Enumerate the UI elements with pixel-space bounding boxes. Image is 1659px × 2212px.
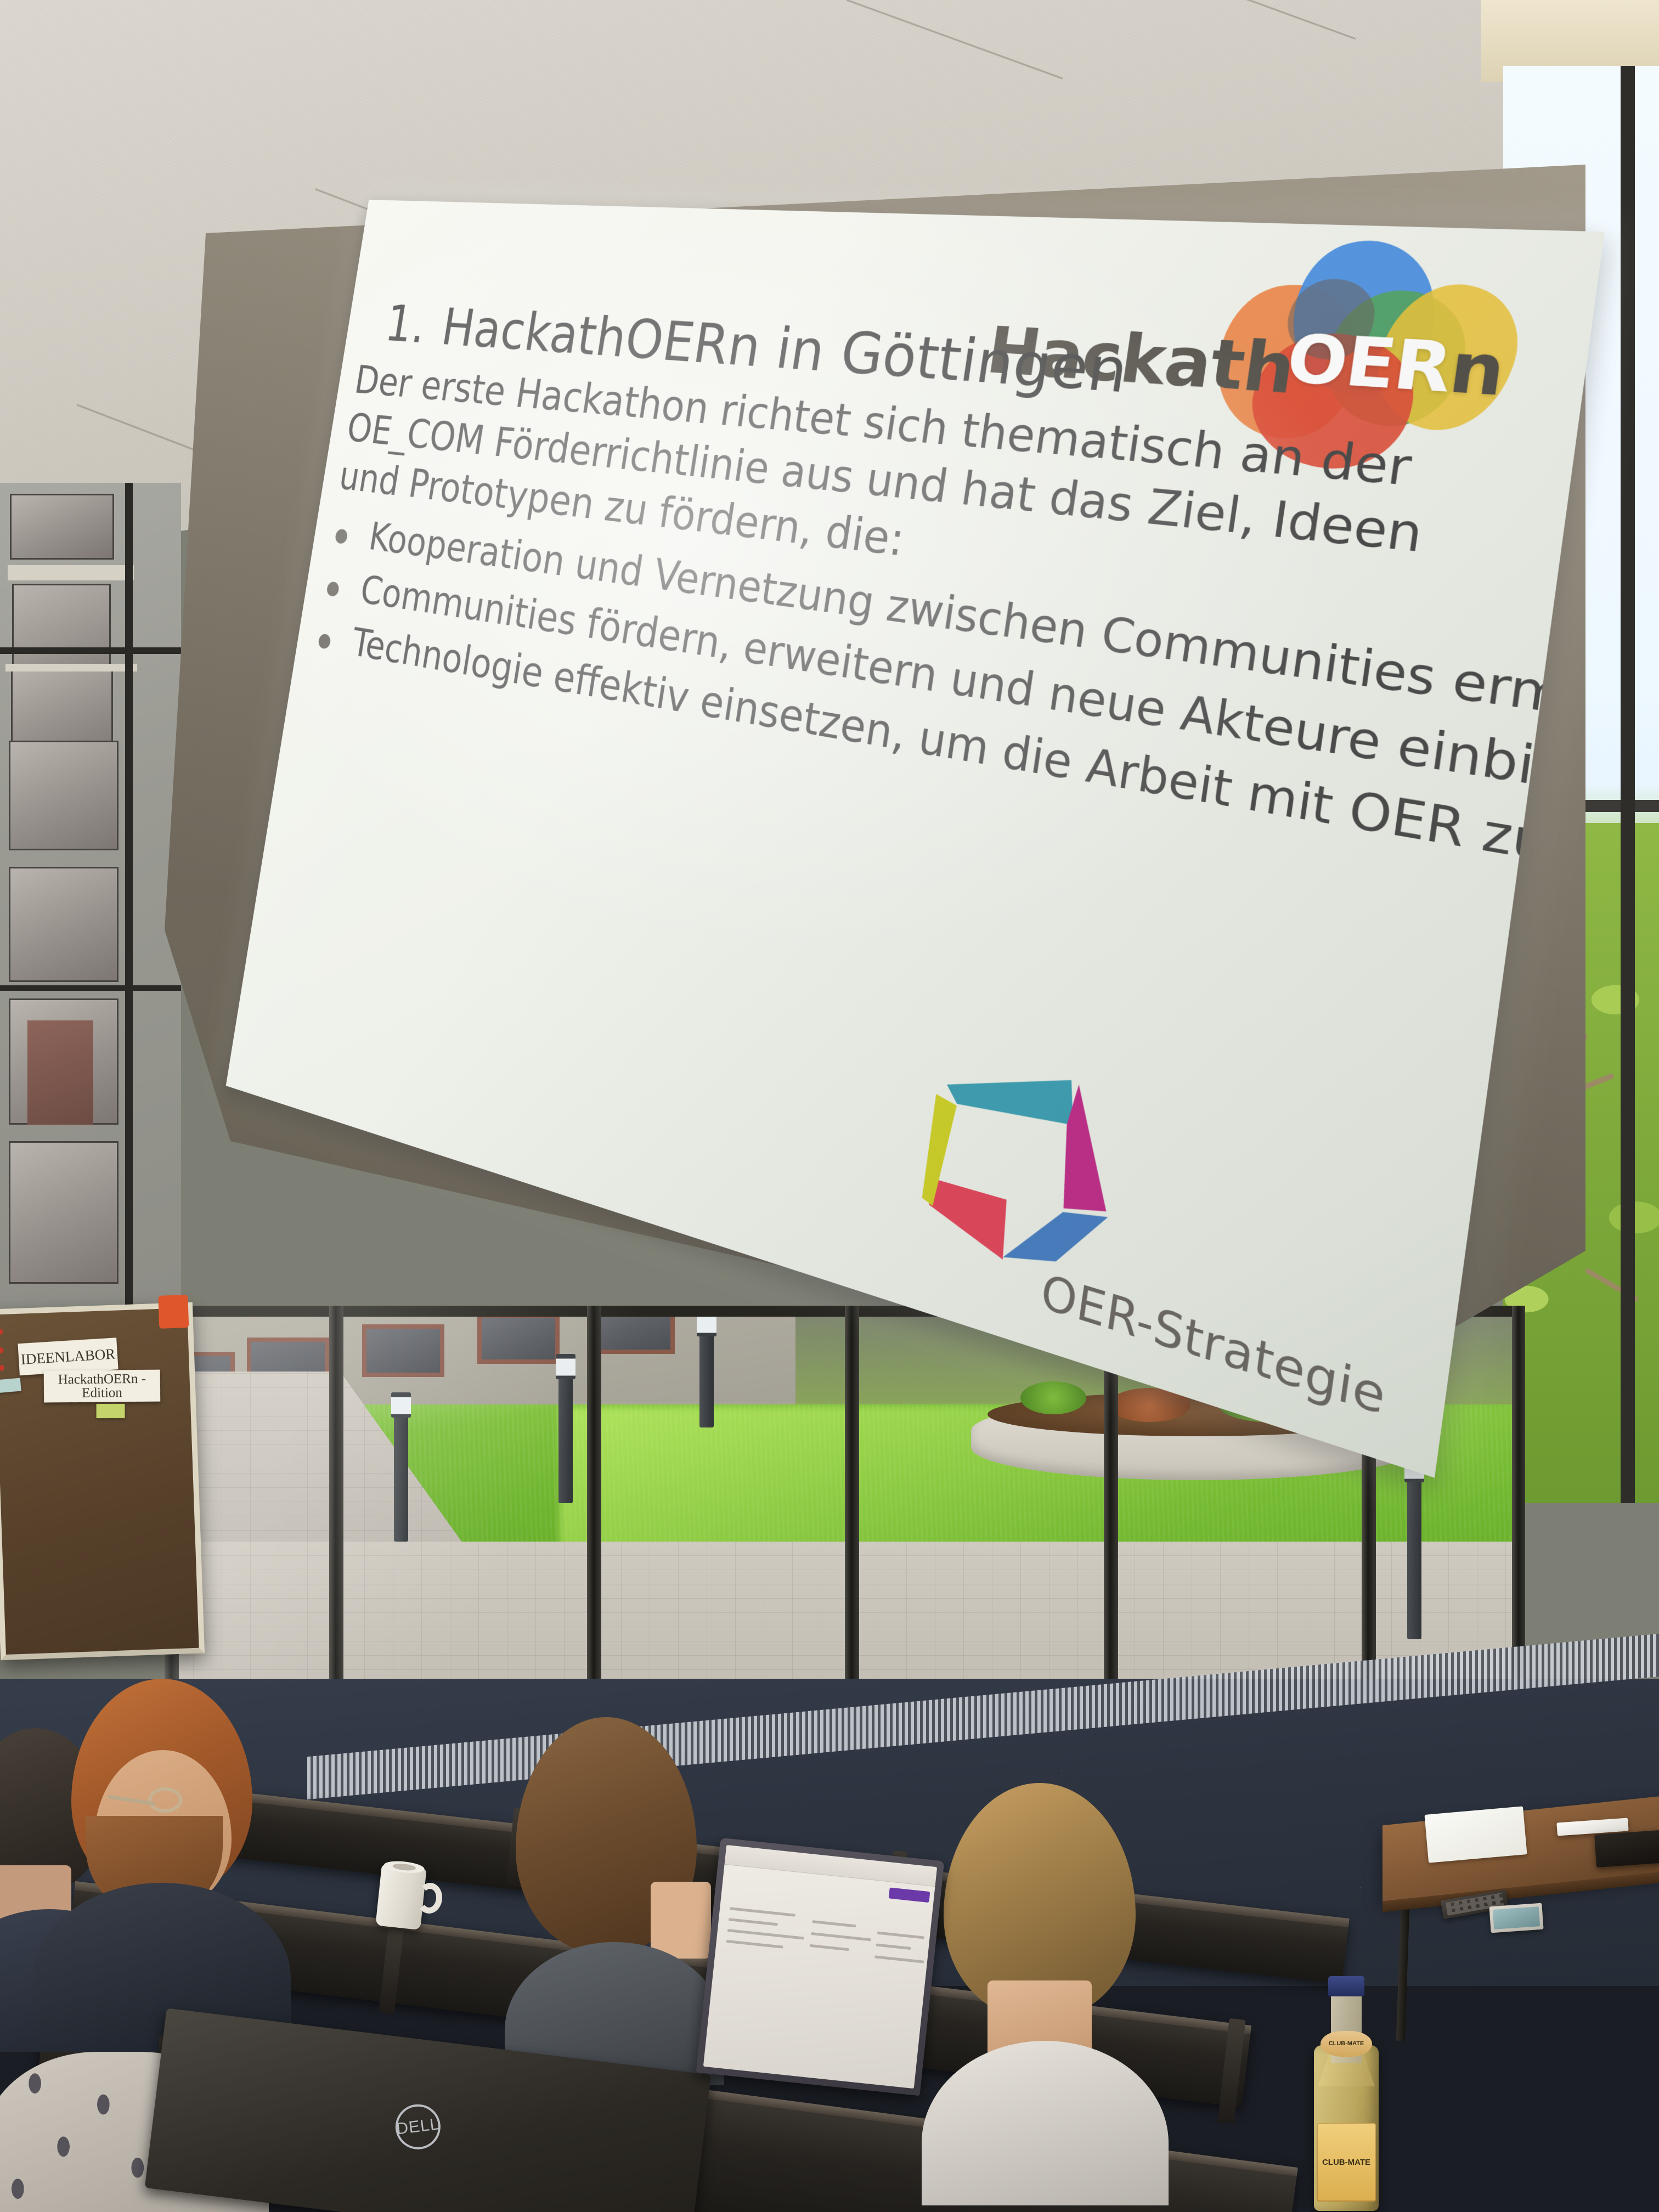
window-sill (5, 664, 137, 672)
glass-pane (9, 867, 119, 982)
document-line (876, 1943, 911, 1950)
bottle-neck-label: CLUB-MATE (1321, 2031, 1372, 2056)
laptop-accent-button (889, 1887, 930, 1903)
bottle-cap (1328, 1976, 1364, 1997)
building-window (362, 1324, 444, 1377)
dell-logo: DELL (393, 2102, 443, 2152)
sticky-note (97, 1404, 125, 1418)
window-mullion (1621, 66, 1635, 1503)
logo-wordmark-light: OERn (1282, 320, 1509, 411)
pinboard-sign-edition: HackathOERn - Edition (44, 1370, 160, 1403)
audience-member-right (927, 1783, 1158, 2167)
glass-pane (9, 741, 119, 850)
logo-n-text: n (1444, 329, 1509, 412)
atrium-glazing (0, 483, 181, 1339)
glass-pane (9, 1141, 119, 1284)
pinboard-corner-bracket (158, 1295, 189, 1329)
audience-member-with-glasses (33, 1679, 291, 2030)
facet-teal (945, 1050, 1080, 1135)
document-line (810, 1944, 849, 1951)
window-mullion (0, 647, 181, 654)
document-line (727, 1929, 804, 1940)
planter-shrub (1020, 1381, 1086, 1414)
laptop-screen (703, 1845, 937, 2089)
laptop-lid (696, 1838, 945, 2096)
open-laptop (696, 1838, 945, 2096)
glass-pane (10, 494, 114, 560)
facade-panel (27, 1020, 93, 1125)
audience-member-center (494, 1717, 730, 2068)
window-sill (8, 565, 134, 580)
document-line (730, 1907, 795, 1917)
bollard-light (558, 1377, 573, 1503)
window-mullion (125, 483, 133, 1339)
sticky-note (0, 1378, 21, 1393)
bottle-main-label: CLUB-MATE (1317, 2123, 1376, 2202)
window-mullion (0, 985, 181, 991)
projected-slide-area: Hackath OERn 1.HackathOERn in Göttingen … (187, 192, 1459, 1212)
bollard-light (394, 1415, 408, 1542)
document-line (726, 1940, 783, 1949)
eyeglasses-lens (148, 1787, 182, 1813)
document-line (811, 1932, 871, 1941)
lecture-hall-photo: Hackath OERn 1.HackathOERn in Göttingen … (0, 0, 1659, 2212)
ideenlabor-pinboard: IDEENLABOR HackathOERn - Edition (0, 1302, 205, 1661)
document-line (874, 1955, 924, 1963)
shoulders (922, 2041, 1169, 2205)
desk-phone (1489, 1903, 1543, 1933)
building-window (477, 1313, 560, 1364)
bollard-light (699, 1334, 714, 1427)
shoulders (33, 1883, 291, 2036)
document-line (877, 1932, 924, 1939)
bollard-light (1407, 1480, 1421, 1639)
neck-and-shoulder-skin (651, 1882, 711, 1959)
document-line (812, 1920, 856, 1927)
desk-equipment-box (1594, 1830, 1659, 1867)
desk-paper (1425, 1806, 1527, 1863)
club-mate-bottle: CLUB-MATE CLUB-MATE (1314, 1980, 1379, 2211)
phone-screen (1493, 1906, 1540, 1929)
slide-title-number: 1. (382, 294, 431, 354)
document-line (729, 1918, 778, 1926)
logo-oer-text: OER (1282, 320, 1455, 408)
